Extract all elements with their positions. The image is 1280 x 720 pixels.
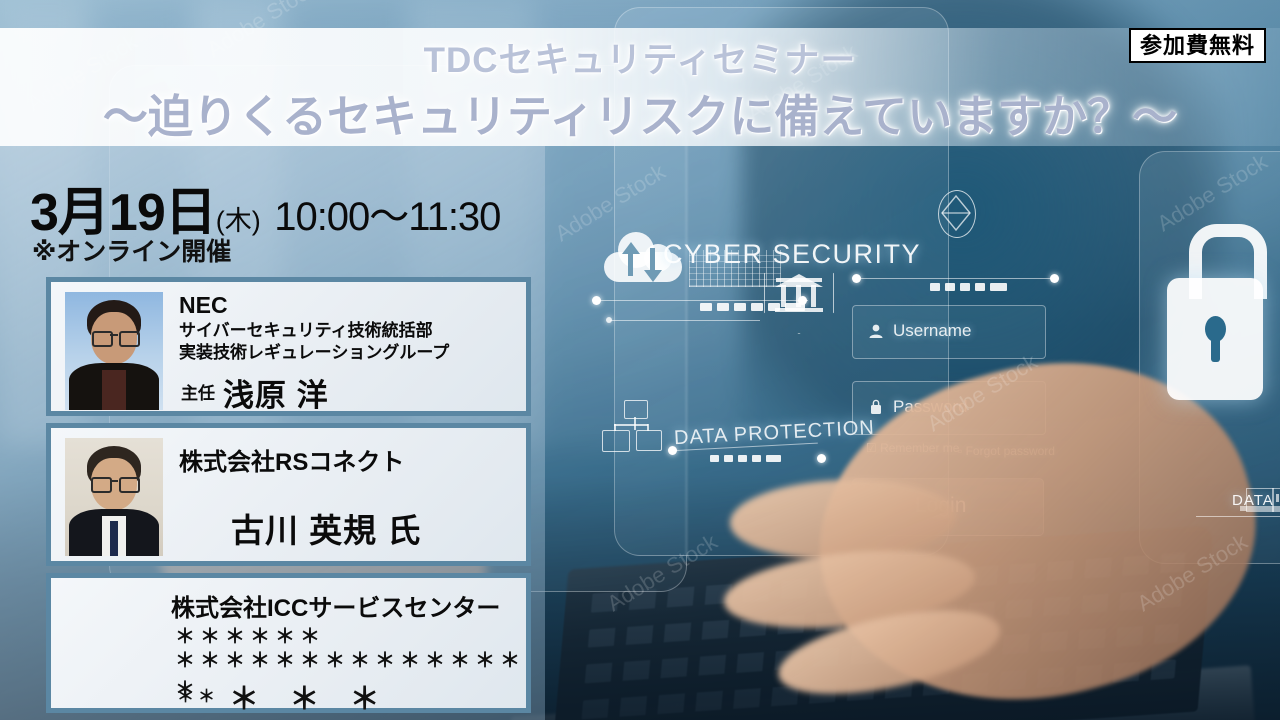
speaker-organization: NEC [179,292,228,319]
speaker-organization: 株式会社RSコネクト [179,442,404,477]
speaker-portrait [65,438,163,556]
lock-icon [869,399,883,415]
network-icon [600,400,674,462]
speaker-card: 株式会社ICCサービスセンター ＊＊＊＊＊＊ ＊＊＊＊＊＊＊＊＊＊＊＊＊＊＊ ＊… [46,573,531,713]
speaker-department-line2: 実装技術レギュレーショングループ [179,342,449,363]
speaker-title: ＊＊ [177,682,219,707]
cyber-security-heading: CYBER SECURITY [663,239,921,270]
speaker-card: NEC サイバーセキュリティ技術統括部 実装技術レギュレーショングループ 主任 … [46,277,531,416]
user-icon [868,323,884,339]
speaker-name: 浅原 洋 [223,370,329,415]
padlock-icon [1167,268,1263,364]
free-admission-badge: 参加費無料 [1129,28,1266,63]
seminar-subtitle: 〜迫りくるセキュリティリスクに備えていますか？〜 [0,80,1280,145]
seminar-poster: DATA PROTECTION CYBER SECURITY Username … [0,0,1280,720]
hud-logo-icon [938,190,976,238]
speaker-department-line1: サイバーセキュリティ技術統括部 [179,320,433,341]
speaker-portrait [65,292,163,410]
speaker-card: 株式会社RSコネクト 古川 英規 氏 [46,423,531,566]
speaker-name: 古川 英規 氏 [231,504,421,552]
username-label: Username [893,321,971,341]
event-time: 10:00〜11:30 [274,195,500,239]
speaker-title: 主任 [181,379,215,404]
speaker-name: ＊ ＊ ＊ [229,674,391,718]
speaker-organization: 株式会社ICCサービスセンター [171,588,500,623]
seminar-title: TDCセキュリティセミナー [0,32,1280,83]
event-format-note: ※オンライン開催 [32,232,231,268]
